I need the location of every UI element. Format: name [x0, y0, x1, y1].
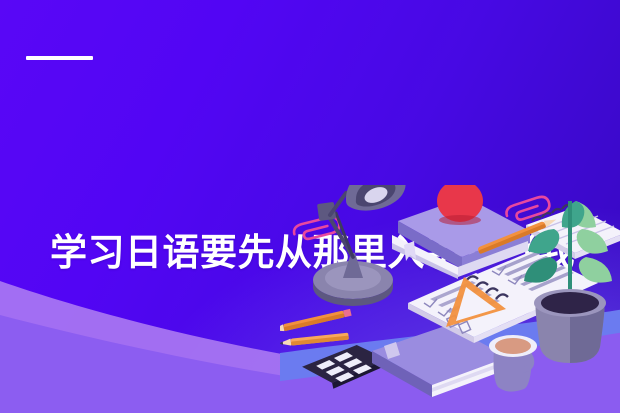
lamp-shade: [346, 185, 406, 211]
desk-lamp: [313, 185, 406, 306]
red-apple: [437, 185, 483, 225]
paper-clip-left: [292, 215, 341, 242]
desk-illustration: [280, 185, 620, 413]
pencils: [280, 309, 352, 347]
article-cover-banner: 学习日语要先从那里入手？（我 现在用新版中日交流标: [0, 0, 620, 413]
accent-bar: [26, 56, 93, 60]
